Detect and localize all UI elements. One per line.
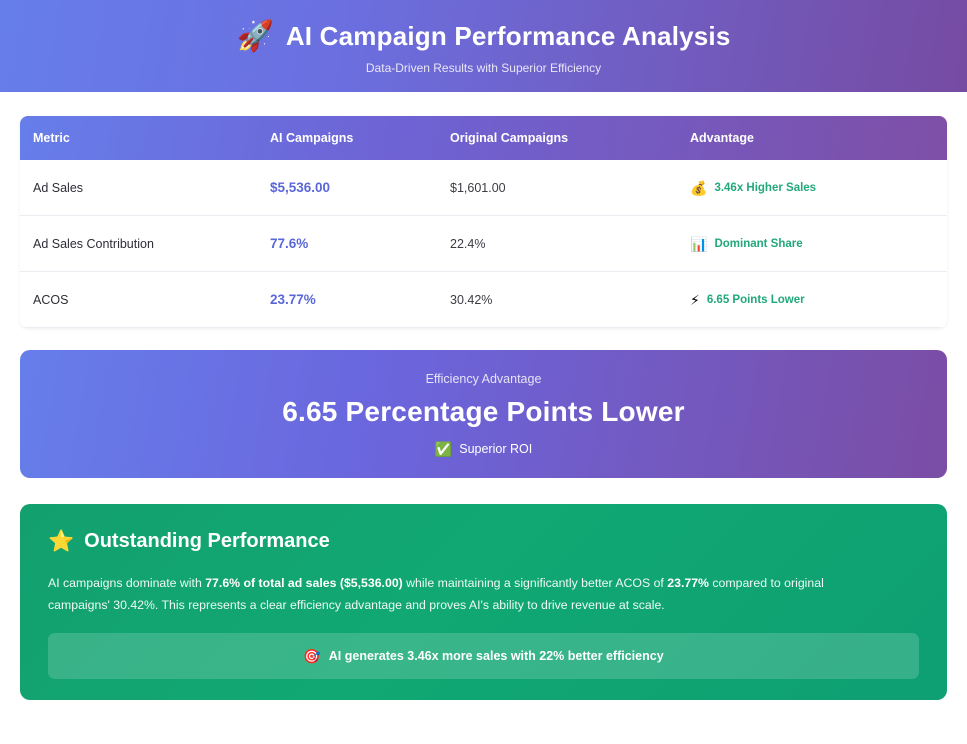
row-metric-label: ACOS: [20, 293, 270, 307]
page-title: AI Campaign Performance Analysis: [286, 21, 731, 52]
table-header-row: Metric AI Campaigns Original Campaigns A…: [20, 116, 947, 160]
table-row: ACOS 23.77% 30.42% ⚡ 6.65 Points Lower: [20, 272, 947, 328]
outstanding-title-row: ⭐ Outstanding Performance: [48, 530, 919, 553]
table-row: Ad Sales $5,536.00 $1,601.00 💰 3.46x Hig…: [20, 160, 947, 216]
row-metric-label: Ad Sales: [20, 181, 270, 195]
row-ai-value: 77.6%: [270, 236, 450, 251]
row-original-value: $1,601.00: [450, 181, 690, 195]
outstanding-title: Outstanding Performance: [84, 530, 330, 553]
row-metric-label: Ad Sales Contribution: [20, 237, 270, 251]
star-icon: ⭐: [48, 531, 74, 552]
comparison-table: Metric AI Campaigns Original Campaigns A…: [20, 116, 947, 328]
efficiency-value: 6.65 Percentage Points Lower: [282, 396, 684, 428]
outstanding-highlight: 🎯 AI generates 3.46x more sales with 22%…: [48, 633, 919, 679]
row-advantage-label: 3.46x Higher Sales: [714, 182, 816, 194]
row-original-value: 22.4%: [450, 237, 690, 251]
body-bold-1: 77.6% of total ad sales ($5,536.00): [205, 576, 403, 590]
column-header-ai: AI Campaigns: [270, 131, 450, 145]
column-header-advantage: Advantage: [690, 131, 934, 145]
row-original-value: 30.42%: [450, 293, 690, 307]
lightning-bolt-icon: ⚡: [690, 293, 700, 307]
body-bold-2: 23.77%: [667, 576, 709, 590]
page-subtitle: Data-Driven Results with Superior Effici…: [366, 61, 601, 75]
row-advantage-label: 6.65 Points Lower: [707, 294, 805, 306]
header-title-row: 🚀 AI Campaign Performance Analysis: [236, 21, 730, 52]
bar-chart-icon: 📊: [690, 237, 707, 251]
page-header: 🚀 AI Campaign Performance Analysis Data-…: [0, 0, 967, 92]
row-ai-value: $5,536.00: [270, 180, 450, 195]
row-ai-value: 23.77%: [270, 292, 450, 307]
body-text-2: while maintaining a significantly better…: [403, 576, 668, 590]
body-text-1: AI campaigns dominate with: [48, 576, 205, 590]
superior-roi-badge: ✅ Superior ROI: [435, 442, 532, 456]
check-mark-icon: ✅: [435, 442, 452, 456]
column-header-original: Original Campaigns: [450, 131, 690, 145]
outstanding-highlight-label: AI generates 3.46x more sales with 22% b…: [329, 649, 664, 663]
superior-roi-label: Superior ROI: [459, 442, 532, 456]
outstanding-body: AI campaigns dominate with 77.6% of tota…: [48, 573, 858, 616]
column-header-metric: Metric: [20, 131, 270, 145]
row-advantage: 💰 3.46x Higher Sales: [690, 181, 934, 195]
bullseye-icon: 🎯: [303, 649, 320, 663]
money-bag-icon: 💰: [690, 181, 707, 195]
rocket-icon: 🚀: [236, 22, 273, 52]
outstanding-performance-card: ⭐ Outstanding Performance AI campaigns d…: [20, 504, 947, 700]
efficiency-advantage-banner: Efficiency Advantage 6.65 Percentage Poi…: [20, 350, 947, 478]
row-advantage-label: Dominant Share: [714, 238, 802, 250]
table-row: Ad Sales Contribution 77.6% 22.4% 📊 Domi…: [20, 216, 947, 272]
row-advantage: ⚡ 6.65 Points Lower: [690, 293, 934, 307]
efficiency-label: Efficiency Advantage: [426, 372, 542, 386]
row-advantage: 📊 Dominant Share: [690, 237, 934, 251]
